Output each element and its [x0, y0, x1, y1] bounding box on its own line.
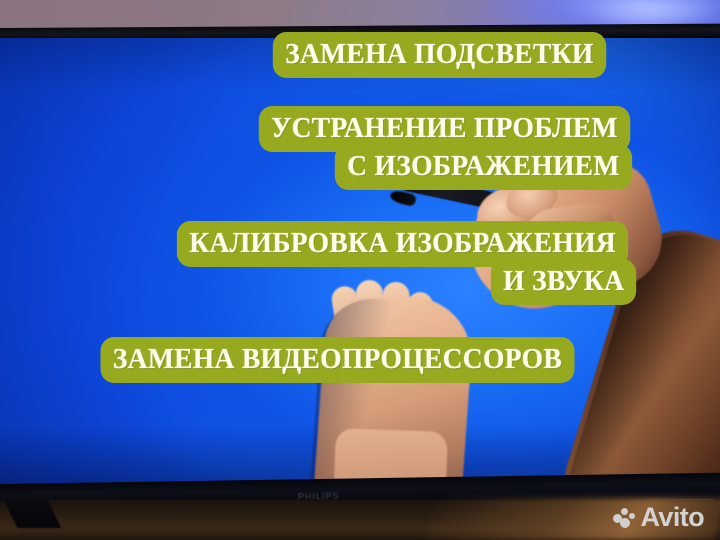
- caption-line: УСТРАНЕНИЕ ПРОБЛЕМ: [263, 110, 627, 148]
- caption-block-video-processor-replacement: ЗАМЕНА ВИДЕОПРОЦЕССОРОВ: [92, 341, 583, 379]
- avito-watermark: Avito: [613, 504, 705, 531]
- caption-line: КАЛИБРОВКА ИЗОБРАЖЕНИЯ: [180, 225, 624, 263]
- caption-block-picture-sound-calibration: КАЛИБРОВКА ИЗОБРАЖЕНИЯИ ЗВУКА: [169, 225, 636, 301]
- caption-line: ЗАМЕНА ПОДСВЕТКИ: [277, 36, 603, 74]
- caption-block-picture-troubleshooting: УСТРАНЕНИЕ ПРОБЛЕМС ИЗОБРАЖЕНИЕМ: [253, 110, 636, 186]
- caption-overlay: ЗАМЕНА ПОДСВЕТКИ УСТРАНЕНИЕ ПРОБЛЕМС ИЗО…: [0, 0, 720, 540]
- caption-block-backlight-replacement: ЗАМЕНА ПОДСВЕТКИ: [268, 36, 611, 74]
- caption-line: С ИЗОБРАЖЕНИЕМ: [339, 148, 629, 186]
- caption-line: ЗАМЕНА ВИДЕОПРОЦЕССОРОВ: [104, 341, 570, 379]
- caption-line: И ЗВУКА: [494, 263, 632, 301]
- advertisement-photo: PHILIPS ЗАМЕНА ПОДСВЕТКИ УСТРАНЕНИЕ ПРОБ…: [0, 0, 720, 540]
- avito-dots-icon: [613, 508, 635, 528]
- avito-wordmark: Avito: [641, 504, 705, 531]
